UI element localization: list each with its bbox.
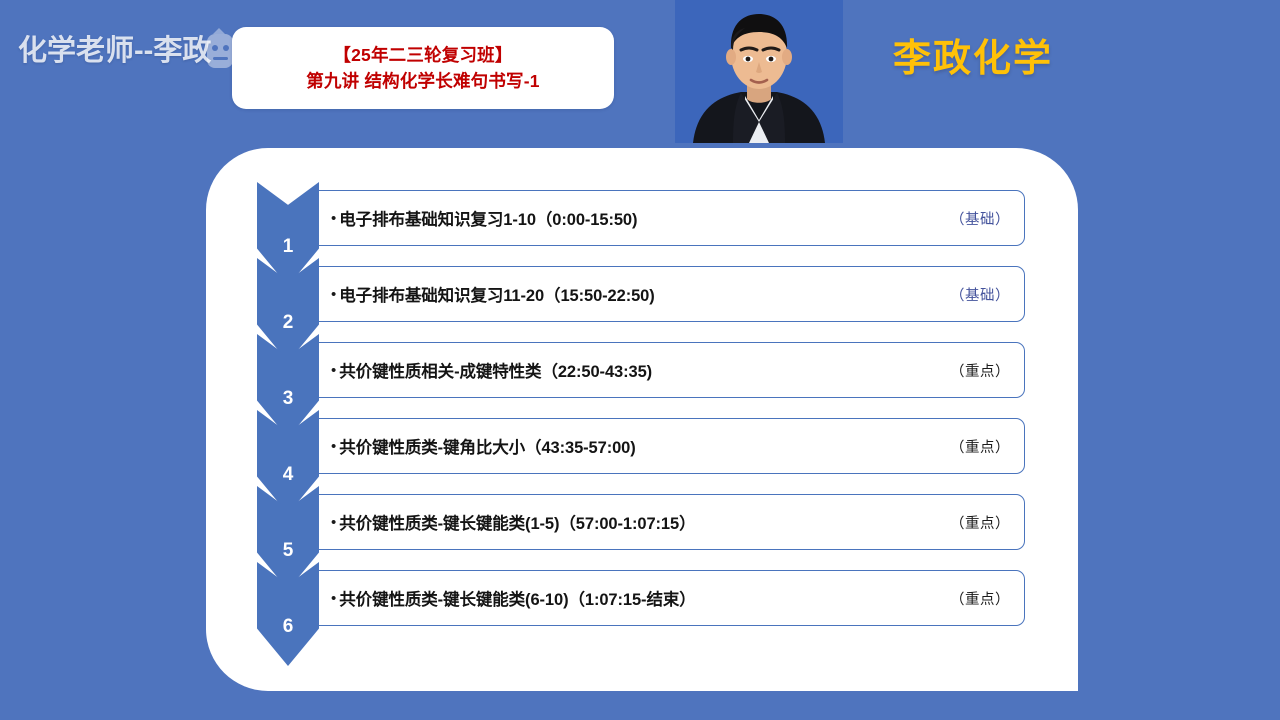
title-line-course: 【25年二三轮复习班】 xyxy=(333,44,512,67)
agenda-row-tag: （重点） xyxy=(950,588,1010,609)
bullet-icon: • xyxy=(331,439,336,454)
channel-watermark-text: 化学老师--李政 xyxy=(18,27,211,69)
agenda-row-tag: （重点） xyxy=(950,512,1010,533)
agenda-row-label: 共价键性质类-键角比大小（43:35-57:00) xyxy=(339,434,950,458)
agenda-row-1[interactable]: • 电子排布基础知识复习1-10（0:00-15:50) （基础） xyxy=(318,190,1025,246)
bullet-icon: • xyxy=(331,363,336,378)
agenda-row-tag: （重点） xyxy=(950,360,1010,381)
chevron-step-column: 1 2 3 4 5 6 xyxy=(257,182,319,662)
agenda-row-3[interactable]: • 共价键性质相关-成键特性类（22:50-43:35) （重点） xyxy=(318,342,1025,398)
lesson-title-card: 【25年二三轮复习班】 第九讲 结构化学长难句书写-1 xyxy=(232,27,614,109)
agenda-row-label: 电子排布基础知识复习1-10（0:00-15:50) xyxy=(339,206,950,230)
agenda-row-tag: （基础） xyxy=(950,208,1010,229)
agenda-row-label: 电子排布基础知识复习11-20（15:50-22:50) xyxy=(339,282,950,306)
bullet-icon: • xyxy=(331,515,336,530)
agenda-row-4[interactable]: • 共价键性质类-键角比大小（43:35-57:00) （重点） xyxy=(318,418,1025,474)
agenda-row-tag: （重点） xyxy=(950,436,1010,457)
agenda-row-label: 共价键性质相关-成键特性类（22:50-43:35) xyxy=(339,358,950,382)
agenda-row-label: 共价键性质类-键长键能类(6-10)（1:07:15-结束） xyxy=(339,586,950,610)
agenda-row-5[interactable]: • 共价键性质类-键长键能类(1-5)（57:00-1:07:15） （重点） xyxy=(318,494,1025,550)
agenda-row-label: 共价键性质类-键长键能类(1-5)（57:00-1:07:15） xyxy=(339,510,950,534)
slide-stage: 化学老师--李政 【25年二三轮复习班】 第九讲 结构化学长难句书写-1 xyxy=(0,0,1280,720)
agenda-row-6[interactable]: • 共价键性质类-键长键能类(6-10)（1:07:15-结束） （重点） xyxy=(318,570,1025,626)
chevron-number-6: 6 xyxy=(283,617,294,666)
agenda-row-tag: （基础） xyxy=(950,284,1010,305)
bullet-icon: • xyxy=(331,287,336,302)
brand-wordmark: 李政化学 xyxy=(893,27,1053,82)
instructor-portrait xyxy=(675,0,843,143)
agenda-row-2[interactable]: • 电子排布基础知识复习11-20（15:50-22:50) （基础） xyxy=(318,266,1025,322)
bullet-icon: • xyxy=(331,591,336,606)
title-line-lesson: 第九讲 结构化学长难句书写-1 xyxy=(306,70,539,93)
bullet-icon: • xyxy=(331,211,336,226)
